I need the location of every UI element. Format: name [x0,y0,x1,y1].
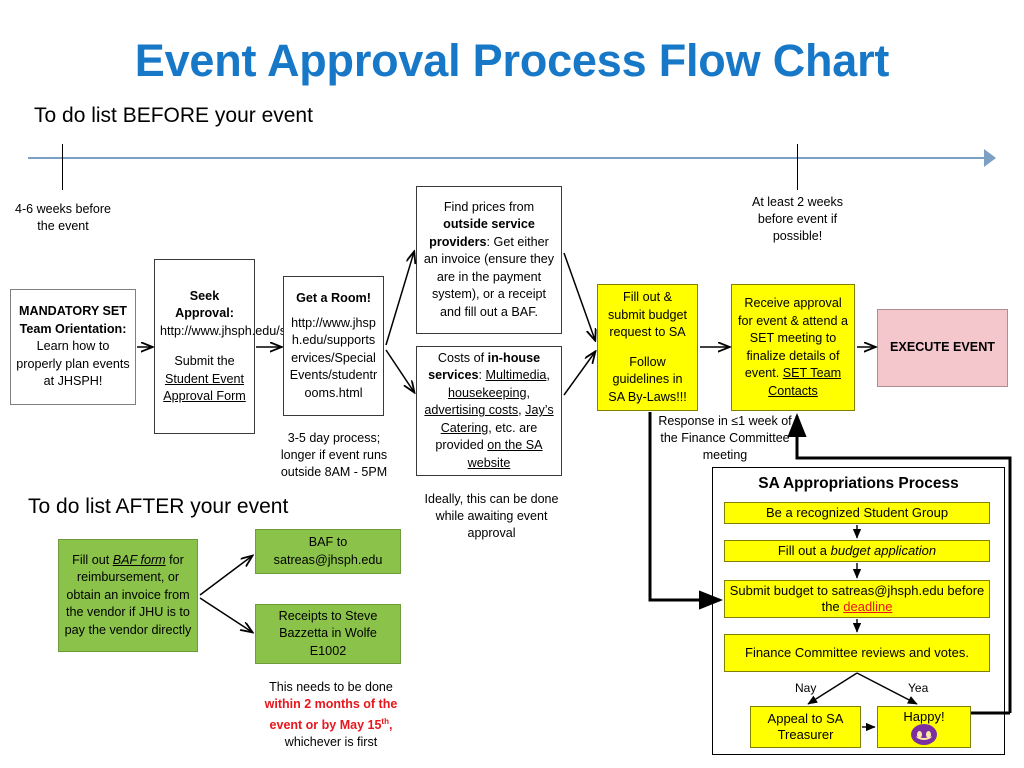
box-receipts-label: Receipts to Steve Bazzetta in Wolfe E100… [279,609,378,658]
box-outside-service-providers[interactable]: Find prices from outside service provide… [416,186,562,334]
arrow-baf-to-receipts [200,598,252,632]
term-sa-website[interactable]: on the SA website [468,438,543,470]
box-mandatory-set-orientation[interactable]: MANDATORY SET Team Orientation: Learn ho… [10,289,136,405]
arrow-room-to-inhouse [386,350,414,392]
box-outside-line1: Find prices from [444,200,534,214]
box-inhouse-lead: Costs of [438,351,488,365]
box-budget-line2: Follow guidelines in SA By-Laws!!! [608,355,686,404]
box-mandatory-body: Learn how to properly plan events at JHS… [16,339,129,388]
warning-highlight-a: within 2 months of the [265,697,398,711]
timeline-tick-right [797,144,798,190]
box-receipts-to-steve[interactable]: Receipts to Steve Bazzetta in Wolfe E100… [255,604,401,664]
box-budget-request[interactable]: Fill out & submit budget request to SA F… [597,284,698,411]
box-budget-line1: Fill out & submit budget request to SA [608,290,687,339]
arrow-baf-to-email [200,556,252,595]
box-seek-approval-form-link[interactable]: Student Event Approval Form [163,372,246,404]
term-multimedia[interactable]: Multimedia [486,368,547,382]
warning-highlight-b: event or by May 15 [270,718,382,732]
flowchart-canvas: Event Approval Process Flow Chart To do … [0,0,1024,768]
timeline-arrowhead [984,149,996,167]
smiley-face-icon [911,724,937,745]
term-housekeeping[interactable]: housekeeping [448,386,526,400]
sa-outcome-happy[interactable]: Happy! [877,706,971,748]
term-advertising-costs[interactable]: advertising costs [424,403,518,417]
warning-highlight-tail: , [389,718,392,732]
box-seek-approval-heading: Seek Approval: [175,289,234,321]
box-mandatory-heading: MANDATORY SET Team Orientation: [19,304,127,336]
warning-highlight-sup: th [381,717,389,726]
box-baf-to-satreas[interactable]: BAF to satreas@jhsph.edu [255,529,401,574]
sa-step-2-budget-application[interactable]: Fill out a budget application [724,540,990,562]
sa-step-4-finance-review[interactable]: Finance Committee reviews and votes. [724,634,990,672]
sa-outcome-happy-label: Happy! [903,709,944,724]
box-baf-lead: Fill out [72,553,113,567]
box-baf-to-label: BAF to satreas@jhsph.edu [274,535,383,567]
box-seek-approval-submit-lead: Submit the [174,354,234,368]
timeline-axis [28,157,990,159]
box-execute-event-label: EXECUTE EVENT [890,340,995,354]
section-heading-after: To do list AFTER your event [28,494,448,520]
caption-response-one-week: Response in ≤1 week of the Finance Commi… [655,413,795,464]
box-seek-approval[interactable]: Seek Approval: http://www.jhsph.edu/stud… [154,259,255,434]
box-fill-out-baf[interactable]: Fill out BAF form for reimbursement, or … [58,539,198,652]
branch-label-yea: Yea [908,681,928,695]
box-receive-approval[interactable]: Receive approval for event & attend a SE… [731,284,855,411]
link-deadline[interactable]: deadline [843,599,892,614]
timeline-tick-left [62,144,63,190]
branch-label-nay: Nay [795,681,816,695]
link-baf-form[interactable]: BAF form [113,553,166,567]
sa-step-1-label: Be a recognized Student Group [766,505,948,521]
timeline-caption-right: At least 2 weeks before event if possibl… [735,194,860,245]
arrow-inhouse-to-budget [564,352,595,395]
sa-step-1-recognized-group[interactable]: Be a recognized Student Group [724,502,990,524]
sa-outcome-appeal-label: Appeal to SA Treasurer [755,711,856,743]
sa-step-2-italic: budget application [831,543,937,558]
panel-sa-title: SA Appropriations Process [712,475,1005,493]
page-title: Event Approval Process Flow Chart [0,34,1024,88]
warning-line3: whichever is first [285,735,377,749]
sa-step-2-lead: Fill out a [778,543,831,558]
sa-outcome-appeal-treasurer[interactable]: Appeal to SA Treasurer [750,706,861,748]
warning-deadline-note: This needs to be done within 2 months of… [243,679,419,751]
warning-line1: This needs to be done [269,680,393,694]
arrow-outside-to-budget [564,253,595,340]
section-heading-before: To do list BEFORE your event [34,103,454,129]
timeline-caption-left: 4-6 weeks before the event [10,201,116,235]
box-execute-event[interactable]: EXECUTE EVENT [877,309,1008,387]
arrow-room-to-outside [386,252,414,345]
box-in-house-services[interactable]: Costs of in-house services: Multimedia, … [416,346,562,476]
box-get-a-room-heading: Get a Room! [296,291,371,305]
caption-room-process: 3-5 day process; longer if event runs ou… [270,430,398,481]
sa-step-4-label: Finance Committee reviews and votes. [745,645,969,661]
box-get-a-room[interactable]: Get a Room! http://www.jhsph.edu/support… [283,276,384,416]
link-set-team-contacts[interactable]: SET Team Contacts [768,366,841,398]
box-get-a-room-url[interactable]: http://www.jhsph.edu/supportservices/Spe… [290,316,378,400]
sa-step-3-submit-budget[interactable]: Submit budget to satreas@jhsph.edu befor… [724,580,990,618]
